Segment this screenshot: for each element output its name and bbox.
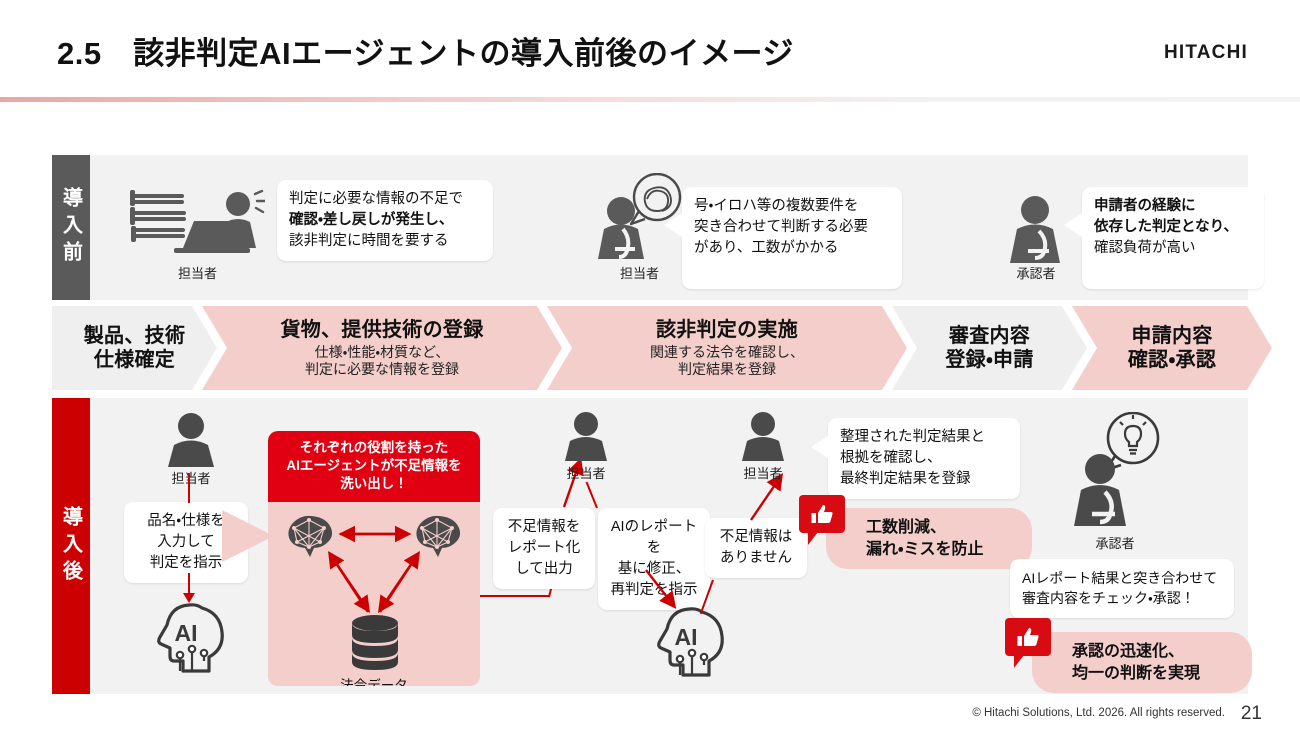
process-step-2: 貨物、提供技術の登録 仕様・性能・材質など、 判定に必要な情報を登録 — [202, 306, 562, 390]
benefit-pill-1: 工数削減、 漏れ・ミスを防止 — [826, 508, 1032, 569]
before-callout-1: 判定に必要な情報の不足で確認・差し戻しが発生し、該非判定に時間を要する — [277, 180, 493, 261]
role-label: 担当者 — [160, 468, 222, 487]
before-label: 導入前 — [52, 155, 90, 300]
database-label: 法令データ — [268, 674, 480, 686]
copyright: © Hitachi Solutions, Ltd. 2026. All righ… — [972, 707, 1225, 719]
person-icon — [735, 412, 791, 467]
role-label: 担当者 — [735, 463, 791, 482]
title-divider — [0, 97, 1300, 102]
before-section: 導入前 担当者 判定に必要な情報の不足で確認・差し戻しが発生し、該 — [52, 155, 1248, 300]
database-icon — [348, 614, 402, 675]
svg-text:AI: AI — [675, 624, 698, 650]
role-label: 担当者 — [130, 263, 265, 282]
before-callout-3: 申請者の経験に依存した判定となり、確認負荷が高い — [1082, 187, 1264, 289]
ai-panel-title: それぞれの役割を持った AIエージェントが不足情報を 洗い出し！ — [268, 431, 480, 502]
after-label: 導入後 — [52, 398, 90, 694]
person-icon — [558, 412, 614, 467]
role-label: 承認者 — [997, 263, 1075, 282]
arrow-line — [188, 573, 190, 595]
person-idea-icon — [1060, 412, 1170, 535]
process-step-4: 審査内容 登録・申請 — [892, 306, 1087, 390]
panel-pointer — [222, 510, 274, 562]
slide: 2.5 該非判定AIエージェントの導入前後のイメージ HITACHI 導入前 — [0, 0, 1300, 731]
connector-line — [480, 595, 550, 597]
before-callout-2: 号・イロハ等の複数要件を突き合わせて判断する必要があり、工数がかかる — [682, 187, 902, 289]
after-box-3: 不足情報は ありません — [705, 518, 807, 578]
approver-callout: AIレポート結果と突き合わせて 審査内容をチェック・承認！ — [1010, 559, 1234, 618]
process-step-1: 製品、技術 仕様確定 — [52, 306, 217, 390]
hitachi-logo: HITACHI — [1164, 42, 1248, 64]
benefit-pill-2: 承認の迅速化、 均一の判断を実現 — [1032, 632, 1252, 693]
thumbs-up-icon — [799, 495, 845, 533]
ai-agent-panel: それぞれの役割を持った AIエージェントが不足情報を 洗い出し！ — [268, 431, 480, 686]
arrow-head-icon — [183, 593, 195, 603]
role-label: 担当者 — [587, 263, 692, 282]
thumbs-up-icon — [1005, 618, 1051, 656]
svg-text:AI: AI — [175, 620, 198, 646]
ai-head-icon: AI — [148, 603, 228, 680]
process-step-5: 申請内容 確認・承認 — [1072, 306, 1272, 390]
ai-head-icon: AI — [648, 607, 728, 684]
approver-top-callout: 整理された判定結果と 根拠を確認し、 最終判定結果を登録 — [828, 418, 1020, 499]
page-number: 21 — [1241, 703, 1262, 725]
page-title: 2.5 該非判定AIエージェントの導入前後のイメージ — [57, 28, 794, 73]
person-at-laptop-with-books-icon — [130, 188, 265, 265]
after-box-1: 不足情報を レポート化 して出力 — [493, 508, 595, 589]
role-label: 担当者 — [558, 463, 614, 482]
process-flow: 製品、技術 仕様確定 貨物、提供技術の登録 仕様・性能・材質など、 判定に必要な… — [52, 306, 1248, 390]
person-icon — [160, 412, 222, 473]
arrow-line — [188, 473, 190, 503]
process-step-3: 該非判定の実施 関連する法令を確認し、 判定結果を登録 — [547, 306, 907, 390]
role-label: 承認者 — [1060, 533, 1170, 552]
